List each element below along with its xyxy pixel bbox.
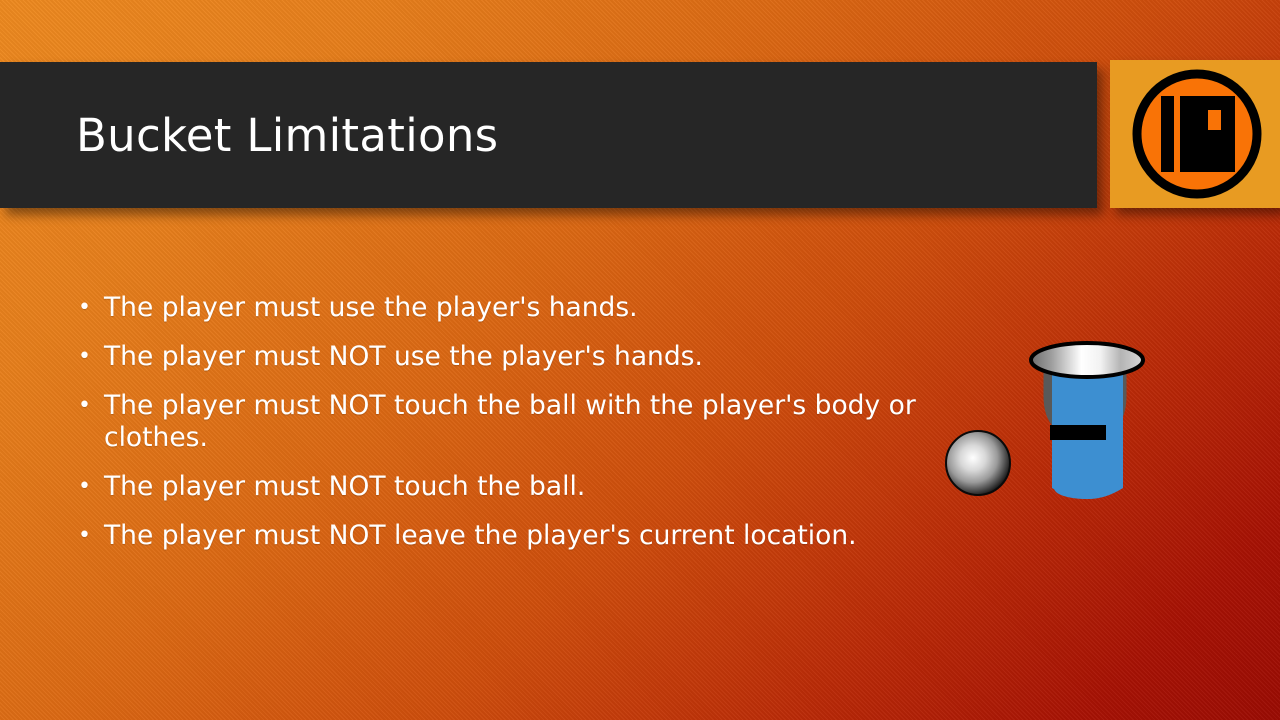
list-item: • The player must NOT use the player's h… [78, 341, 1008, 373]
bucket-rim [1031, 343, 1143, 377]
list-item: • The player must NOT touch the ball wit… [78, 390, 1008, 454]
bullet-text: The player must NOT touch the ball with … [104, 390, 1008, 454]
handle-grip [1050, 425, 1106, 440]
bullet-text: The player must NOT leave the player's c… [104, 520, 1008, 552]
slide: Bucket Limitations [0, 0, 1280, 720]
bullet-text: The player must NOT touch the ball. [104, 471, 1008, 503]
bullet-marker: • [78, 520, 104, 552]
title-bar: Bucket Limitations [0, 62, 1097, 208]
page-title: Bucket Limitations [76, 109, 498, 162]
list-item: • The player must NOT touch the ball. [78, 471, 1008, 503]
list-item: • The player must NOT leave the player's… [78, 520, 1008, 552]
list-item: • The player must use the player's hands… [78, 292, 1008, 324]
bullet-text: The player must use the player's hands. [104, 292, 1008, 324]
ball [946, 431, 1010, 495]
ilg-logo-icon [1130, 67, 1264, 201]
bullet-marker: • [78, 471, 104, 503]
bullet-marker: • [78, 292, 104, 324]
bullet-marker: • [78, 341, 104, 373]
logo-panel [1110, 60, 1280, 208]
bullet-text: The player must NOT use the player's han… [104, 341, 1008, 373]
bullet-list: • The player must use the player's hands… [78, 292, 1008, 569]
bullet-marker: • [78, 390, 104, 422]
bucket-and-ball-illustration [930, 330, 1210, 535]
